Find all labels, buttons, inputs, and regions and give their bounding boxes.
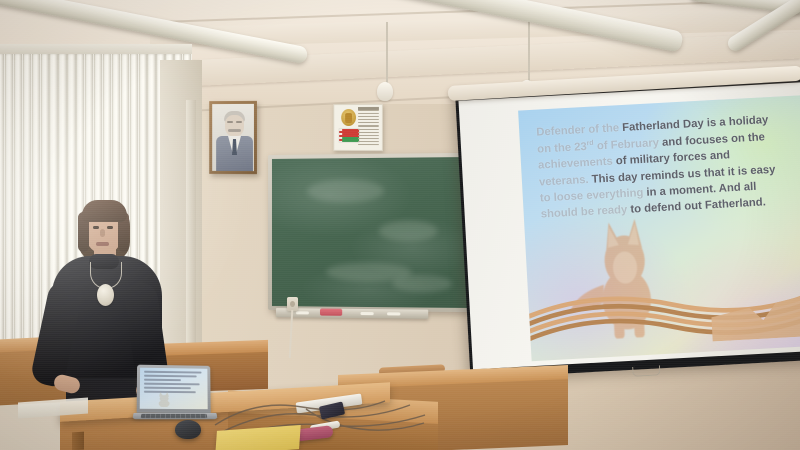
classroom-photo: Defender of the Fatherland Day is a holi… — [0, 0, 800, 450]
chalkboard-eraser[interactable] — [320, 309, 342, 316]
flag-icon — [339, 129, 359, 142]
laptop-screen — [140, 368, 208, 410]
screen-pull-handle[interactable] — [632, 365, 660, 376]
chalkboard-surface — [272, 157, 468, 308]
portrait-face — [225, 115, 244, 137]
blind-louver[interactable] — [5, 54, 13, 354]
blind-louver[interactable] — [14, 54, 22, 354]
blind-louver[interactable] — [23, 54, 31, 354]
oval-pendant — [97, 284, 114, 306]
laptop-keyboard[interactable] — [141, 414, 208, 418]
mouth — [96, 242, 109, 246]
blind-louver[interactable] — [0, 54, 4, 354]
portrait-moustache — [228, 129, 241, 132]
poster-text-lines — [358, 110, 379, 147]
framed-portrait — [209, 101, 257, 174]
projection-surface: Defender of the Fatherland Day is a holi… — [458, 82, 800, 369]
state-symbols-poster — [333, 104, 383, 151]
laptop-lid — [137, 365, 211, 414]
desk-leg — [72, 432, 84, 450]
wall-outlet[interactable] — [287, 297, 298, 311]
hair-fringe — [82, 200, 127, 222]
chalkboard — [268, 153, 472, 312]
projection-screen: Defender of the Fatherland Day is a holi… — [455, 73, 800, 379]
laptop-dog-image — [151, 390, 178, 407]
presentation-slide: Defender of the Fatherland Day is a holi… — [518, 96, 800, 361]
laptop[interactable] — [133, 365, 217, 425]
computer-mouse[interactable] — [175, 420, 201, 439]
coat-of-arms-icon — [341, 109, 356, 126]
window-mullion — [186, 100, 196, 350]
